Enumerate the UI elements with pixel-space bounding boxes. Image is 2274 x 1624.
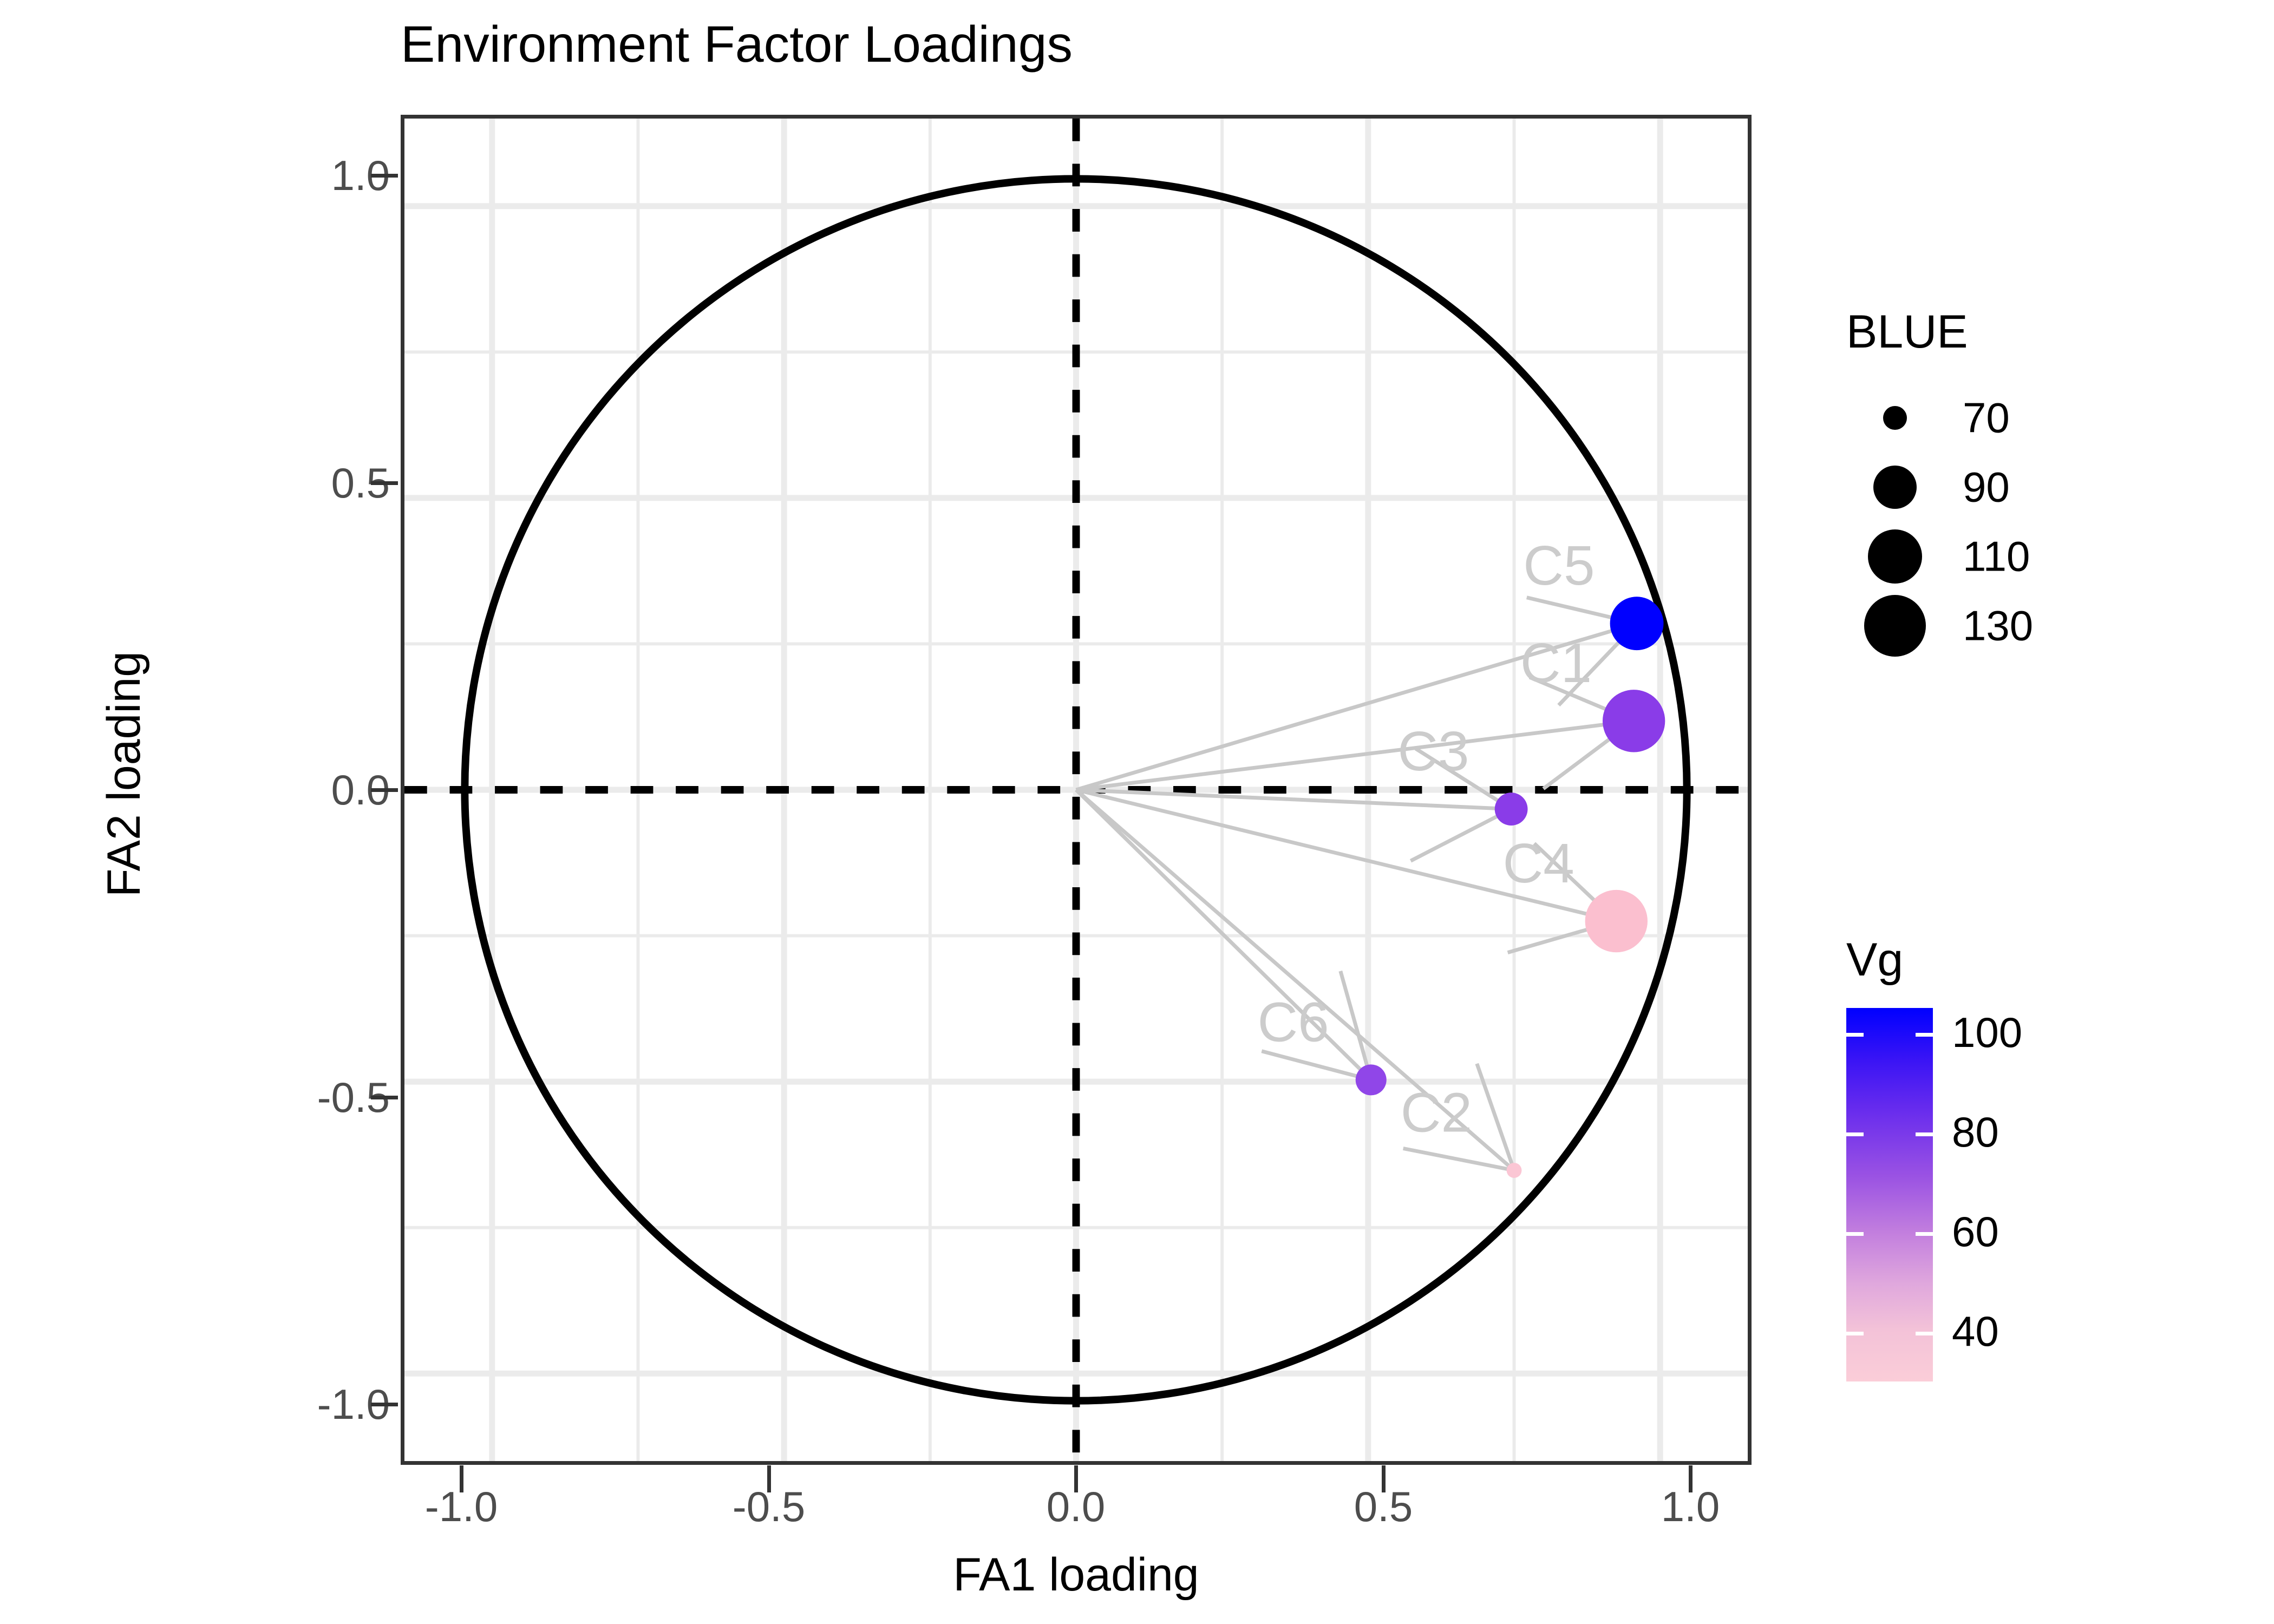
color-legend-bar (1846, 1008, 1933, 1381)
colorbar-tick (1916, 1033, 1933, 1037)
colorbar-label-100: 100 (1952, 1008, 2022, 1057)
ytick-mark-4 (371, 1096, 398, 1099)
xtick-mark-4 (1382, 1465, 1386, 1492)
size-legend-item-110: 110 (1846, 524, 2063, 589)
data-point-C5[interactable] (1610, 597, 1664, 650)
size-legend-item-130: 130 (1846, 593, 2063, 658)
point-label-C1: C1 (1520, 631, 1592, 694)
size-legend-dot (1864, 595, 1926, 657)
size-legend-item-70: 70 (1846, 385, 2063, 450)
point-labels: C5C1C3C4C6C2 (1257, 534, 1595, 1143)
ytick-mark-5 (371, 1403, 398, 1406)
xtick-mark-3 (1074, 1465, 1078, 1492)
size-legend-dot (1883, 406, 1907, 430)
data-point-C6[interactable] (1356, 1064, 1387, 1095)
point-label-C3: C3 (1397, 719, 1469, 782)
colorbar-gradient (1846, 1008, 1933, 1381)
ytick-label-2: 0.5 (195, 459, 390, 508)
ytick-label-3: 0.0 (195, 765, 390, 815)
size-legend-label: 130 (1963, 601, 2033, 651)
y-axis-title: FA2 loading (97, 97, 146, 1451)
color-legend-title: Vg (1846, 933, 1903, 987)
ytick-label-5: -1.0 (195, 1380, 390, 1429)
size-legend-label: 70 (1963, 394, 2010, 443)
xtick-mark-5 (1689, 1465, 1693, 1492)
size-legend-dot (1868, 529, 1922, 584)
ytick-label-1: 1.0 (195, 151, 390, 200)
size-legend-title: BLUE (1846, 305, 1968, 359)
colorbar-label-40: 40 (1952, 1307, 1999, 1356)
data-point-C2[interactable] (1507, 1163, 1522, 1178)
colorbar-tick (1846, 1033, 1864, 1037)
colorbar-tick (1846, 1332, 1864, 1335)
x-axis-title: FA1 loading (401, 1548, 1752, 1602)
size-legend-dot (1873, 466, 1917, 509)
ytick-mark-1 (371, 174, 398, 178)
plot-canvas: C5C1C3C4C6C2 (404, 119, 1748, 1461)
colorbar-tick (1846, 1232, 1864, 1236)
size-legend-label: 90 (1963, 463, 2010, 512)
page-title: Environment Factor Loadings (401, 15, 1073, 74)
size-legend-item-90: 90 (1846, 455, 2063, 520)
colorbar-label-60: 60 (1952, 1207, 1999, 1256)
legend-area: BLUE 7090110130 Vg 100806040 (1835, 115, 2247, 1465)
ytick-label-4: -0.5 (195, 1073, 390, 1122)
size-legend-label: 110 (1963, 532, 2030, 581)
data-point-C3[interactable] (1495, 793, 1528, 826)
xtick-mark-2 (767, 1465, 771, 1492)
ytick-mark-3 (371, 788, 398, 792)
point-label-C2: C2 (1401, 1081, 1472, 1143)
data-point-C4[interactable] (1585, 890, 1648, 952)
point-label-C6: C6 (1257, 990, 1329, 1053)
plot-panel: C5C1C3C4C6C2 (401, 115, 1752, 1465)
colorbar-label-80: 80 (1952, 1108, 1999, 1157)
xtick-mark-1 (460, 1465, 463, 1492)
ytick-mark-2 (371, 481, 398, 485)
colorbar-tick (1916, 1332, 1933, 1335)
colorbar-tick (1916, 1232, 1933, 1236)
point-label-C4: C4 (1503, 831, 1574, 894)
colorbar-tick (1916, 1132, 1933, 1136)
data-point-C1[interactable] (1603, 690, 1665, 752)
colorbar-tick (1846, 1132, 1864, 1136)
chart-root: Environment Factor Loadings 1.0 0.5 0.0 … (0, 0, 2274, 1624)
point-label-C5: C5 (1523, 534, 1595, 597)
